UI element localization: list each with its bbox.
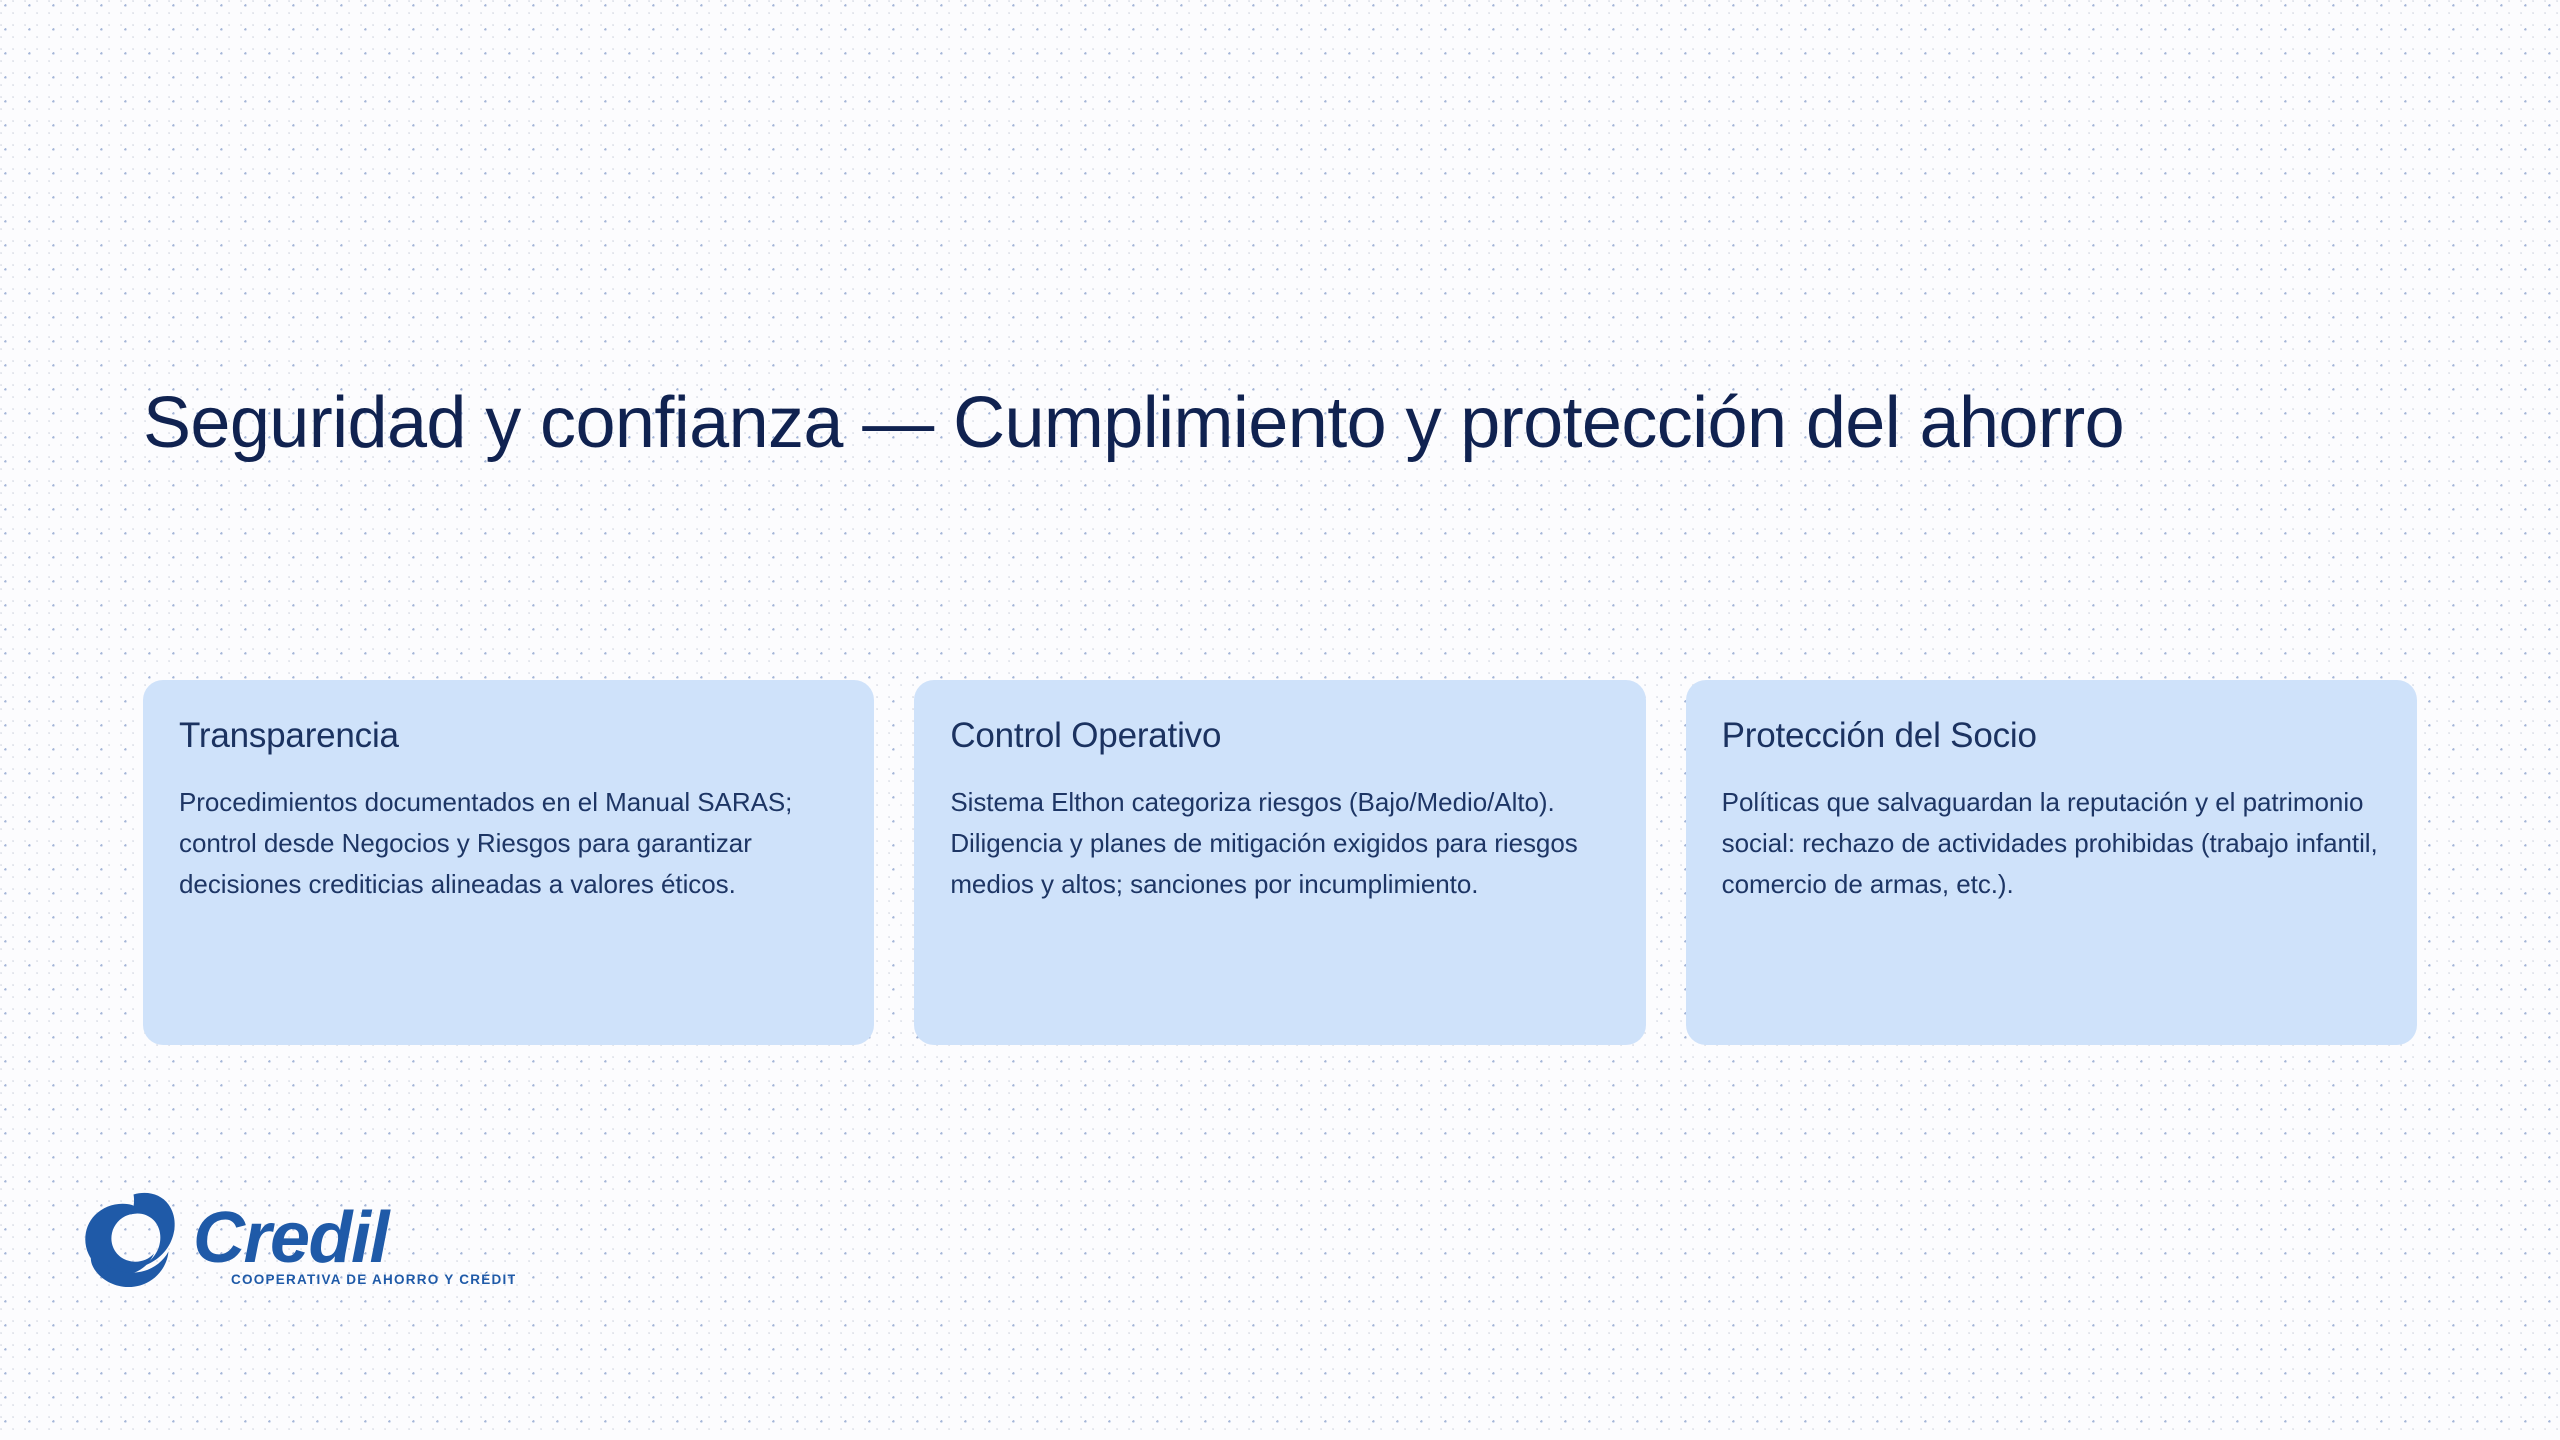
card-body: Políticas que salvaguardan la reputación… <box>1722 782 2379 905</box>
credil-swirl-mark <box>85 1193 174 1287</box>
credil-logo: Credil COOPERATIVA DE AHORRO Y CRÉDITO <box>75 1188 515 1298</box>
title-block: Seguridad y confianza — Cumplimiento y p… <box>143 382 2443 464</box>
page-title: Seguridad y confianza — Cumplimiento y p… <box>143 382 2443 464</box>
card-title: Protección del Socio <box>1722 716 2379 756</box>
credil-tagline: COOPERATIVA DE AHORRO Y CRÉDITO <box>231 1272 515 1287</box>
feature-cards-row: Transparencia Procedimientos documentado… <box>143 680 2417 1045</box>
credil-logo-svg: Credil COOPERATIVA DE AHORRO Y CRÉDITO <box>75 1188 515 1298</box>
card-body: Sistema Elthon categoriza riesgos (Bajo/… <box>950 782 1607 905</box>
card-title: Control Operativo <box>950 716 1607 756</box>
card-transparencia: Transparencia Procedimientos documentado… <box>143 680 874 1045</box>
slide-canvas: Seguridad y confianza — Cumplimiento y p… <box>0 0 2560 1440</box>
card-title: Transparencia <box>179 716 836 756</box>
card-body: Procedimientos documentados en el Manual… <box>179 782 836 905</box>
credil-wordmark: Credil <box>193 1198 392 1278</box>
card-proteccion-del-socio: Protección del Socio Políticas que salva… <box>1686 680 2417 1045</box>
card-control-operativo: Control Operativo Sistema Elthon categor… <box>914 680 1645 1045</box>
